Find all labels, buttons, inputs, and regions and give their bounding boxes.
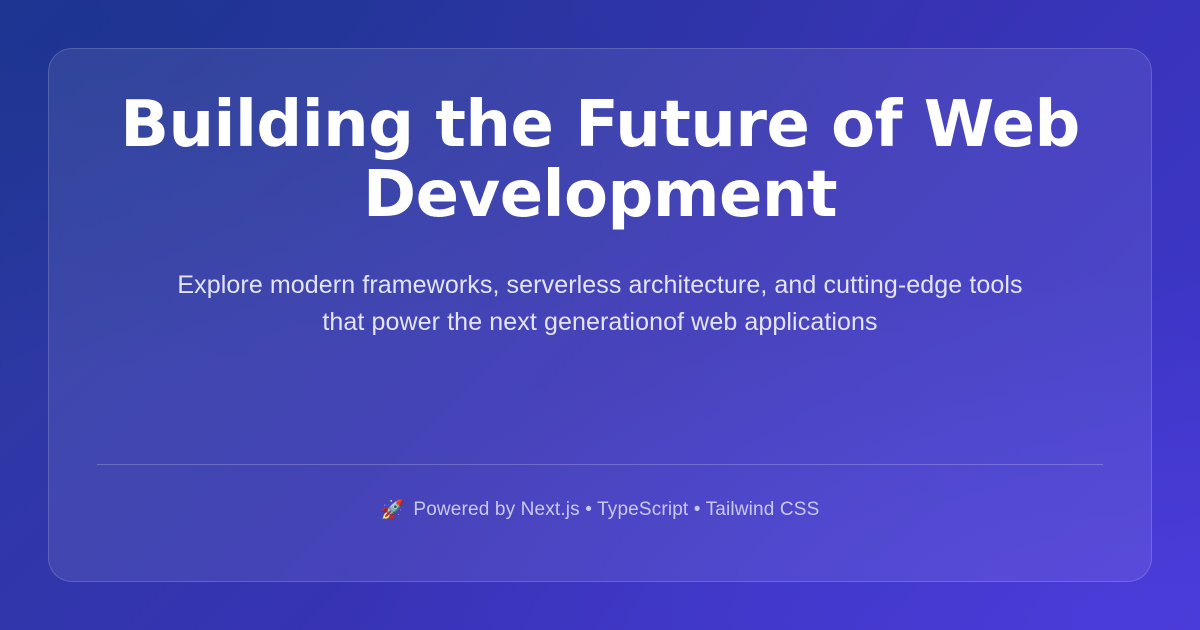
footer-divider [97,464,1103,465]
footer-credits: 🚀 Powered by Next.js • TypeScript • Tail… [97,498,1103,523]
page-subtitle: Explore modern frameworks, serverless ar… [165,267,1035,341]
hero-card: Building the Future of Web Development E… [48,48,1152,582]
page-title: Building the Future of Web Development [93,91,1107,231]
rocket-icon: 🚀 [381,501,405,520]
og-image-canvas: Building the Future of Web Development E… [0,0,1200,630]
footer-credits-text: Powered by Next.js • TypeScript • Tailwi… [413,498,819,523]
